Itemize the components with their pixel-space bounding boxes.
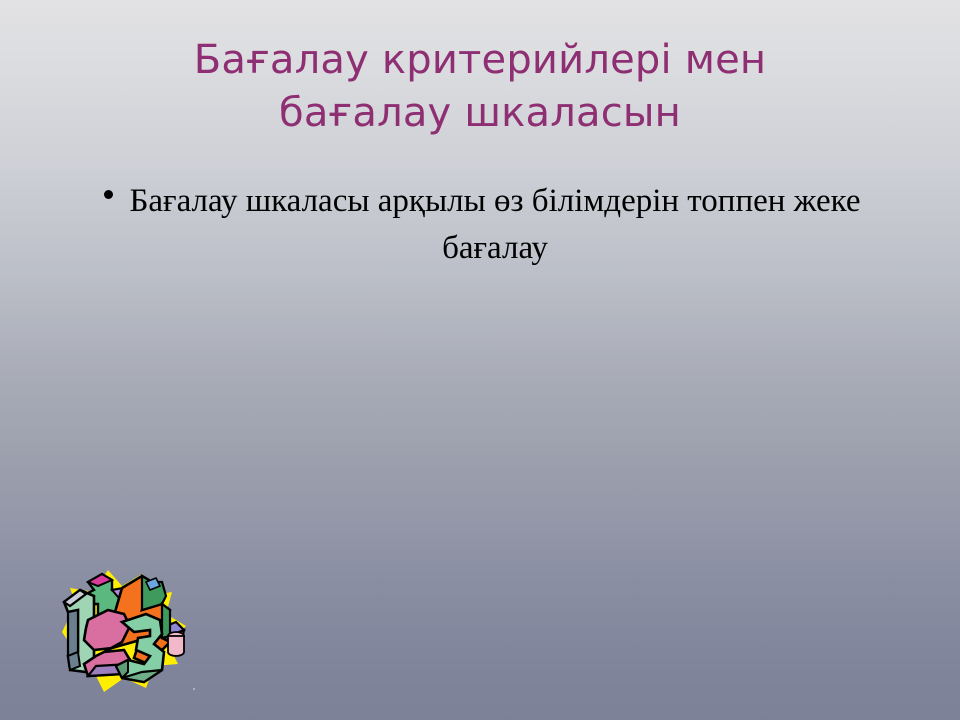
slide-title: Бағалау критерийлері мен бағалау шкаласы…	[60, 34, 900, 140]
slide-title-line-1: Бағалау критерийлері мен	[60, 34, 900, 87]
bullet-dot-icon	[104, 190, 113, 199]
math-numbers-clipart	[50, 552, 196, 700]
slide-canvas: Бағалау критерийлері мен бағалау шкаласы…	[0, 0, 960, 720]
math-numbers-icon	[50, 552, 196, 700]
list-item-label: Бағалау шкаласы арқылы өз білімдерін топ…	[72, 178, 892, 272]
image-artifact-dot	[193, 688, 195, 690]
slide-title-line-2: бағалау шкаласын	[60, 87, 900, 140]
list-item: Бағалау шкаласы арқылы өз білімдерін топ…	[72, 178, 892, 272]
slide-body: Бағалау шкаласы арқылы өз білімдерін топ…	[72, 178, 892, 272]
